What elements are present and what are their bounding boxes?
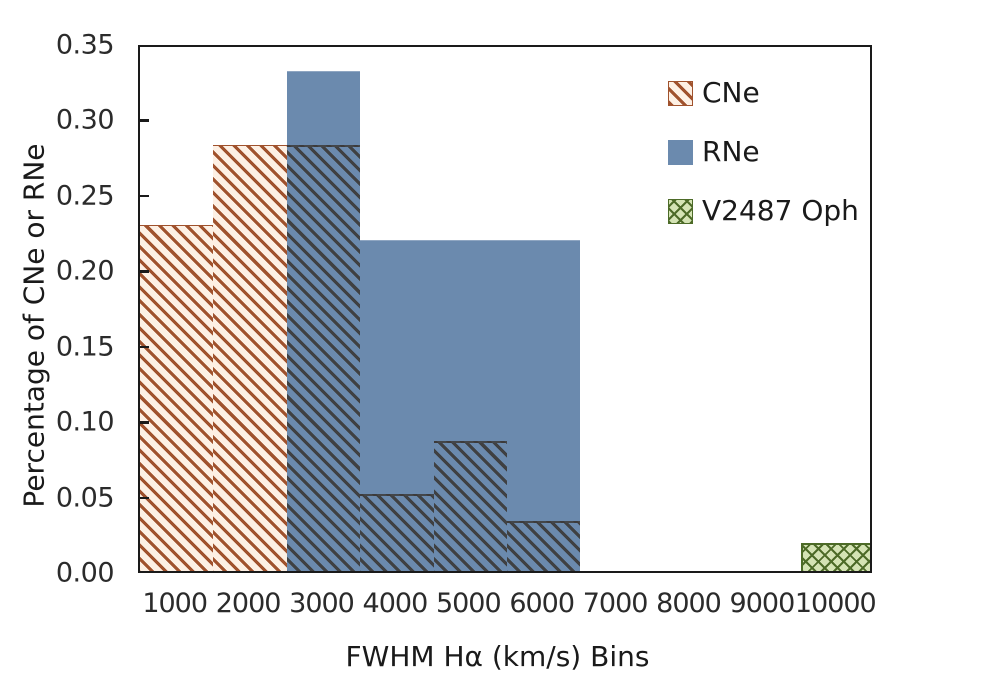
bar-cne-overlay-4: [434, 441, 507, 571]
y-tick-label: 0.15: [56, 331, 114, 362]
y-tick-label: 0.05: [56, 482, 114, 513]
x-axis-ticks: 1000200030004000500060007000800090001000…: [0, 584, 995, 624]
chart-figure: Percentage of CNe or RNe 0.000.050.100.1…: [0, 0, 995, 693]
x-tick-label: 2000: [216, 588, 281, 619]
y-tick-mark: [138, 119, 149, 122]
legend-swatch-icon: [668, 140, 693, 165]
legend-label: CNe: [702, 79, 760, 107]
x-tick-label: 3000: [289, 588, 354, 619]
y-tick-mark: [138, 195, 149, 198]
legend-label: RNe: [702, 138, 760, 166]
y-tick-label: 0.20: [56, 256, 114, 287]
legend-swatch-icon: [668, 199, 693, 224]
legend-item-cne[interactable]: CNe: [668, 78, 898, 108]
bar-cne-overlay-5: [507, 521, 580, 571]
x-tick-label: 9000: [730, 588, 795, 619]
bar-cne-overlay-2: [287, 145, 360, 571]
x-tick-label: 8000: [656, 588, 721, 619]
x-tick-label: 4000: [363, 588, 428, 619]
y-tick-label: 0.30: [56, 105, 114, 136]
bar-v2487-9: [801, 543, 870, 571]
x-tick-label: 10000: [795, 588, 876, 619]
x-tick-label: 7000: [583, 588, 648, 619]
x-tick-label: 6000: [509, 588, 574, 619]
y-tick-mark: [138, 421, 149, 424]
bar-cne-overlay-3: [360, 494, 433, 571]
chart-legend: CNeRNeV2487 Oph: [668, 78, 898, 255]
y-tick-label: 0.10: [56, 407, 114, 438]
legend-item-rne[interactable]: RNe: [668, 137, 898, 167]
x-axis-title: FWHM Hα (km/s) Bins: [0, 640, 995, 673]
legend-item-v2487-oph[interactable]: V2487 Oph: [668, 196, 898, 226]
y-tick-mark: [138, 270, 149, 273]
y-tick-label: 0.35: [56, 30, 114, 61]
legend-label: V2487 Oph: [702, 197, 859, 225]
bar-cne-hatch-1: [213, 145, 286, 571]
x-tick-label: 1000: [142, 588, 207, 619]
y-tick-mark: [138, 346, 149, 349]
legend-swatch-icon: [668, 81, 693, 106]
bar-cne-hatch-0: [140, 225, 213, 571]
y-tick-label: 0.25: [56, 180, 114, 211]
x-tick-label: 5000: [436, 588, 501, 619]
y-tick-mark: [138, 497, 149, 500]
